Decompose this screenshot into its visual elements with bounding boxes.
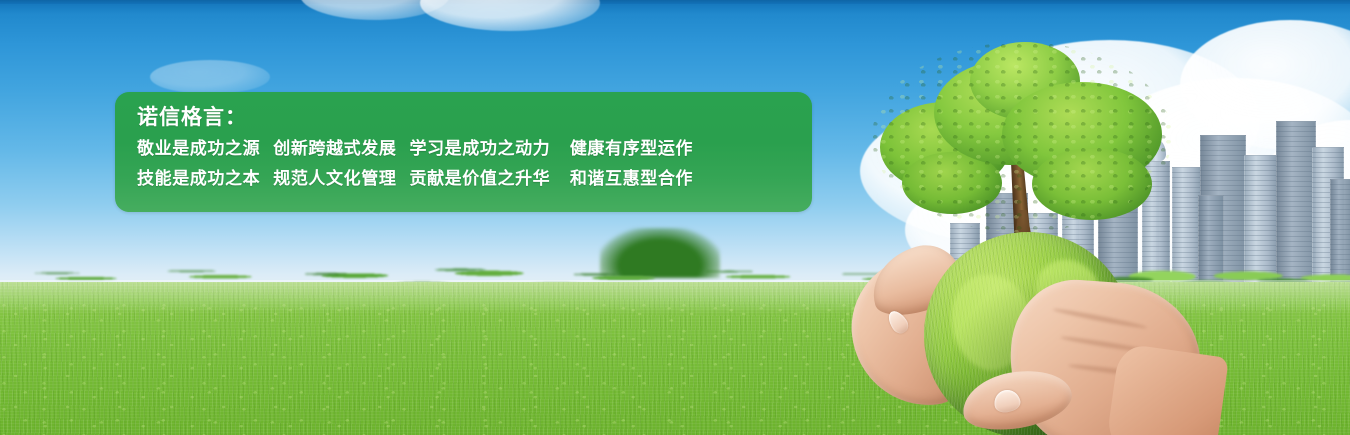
motto-title: 诺信格言： [137, 107, 812, 128]
cloud-icon [150, 60, 270, 94]
sky-top-edge [0, 0, 1350, 4]
eco-banner: 诺信格言： 敬业是成功之源 创新跨越式发展 学习是成功之动力 健康有序型运作 技… [0, 0, 1350, 435]
tree-canopy [1032, 148, 1152, 220]
globe-in-hands-group [862, 20, 1192, 435]
motto-content: 诺信格言： 敬业是成功之源 创新跨越式发展 学习是成功之动力 健康有序型运作 技… [115, 92, 812, 188]
motto-line-2: 技能是成功之本 规范人文化管理 贡献是价值之升华 和谐互惠型合作 [137, 171, 812, 188]
motto-line-1: 敬业是成功之源 创新跨越式发展 学习是成功之动力 健康有序型运作 [137, 141, 812, 158]
motto-panel: 诺信格言： 敬业是成功之源 创新跨越式发展 学习是成功之动力 健康有序型运作 技… [115, 92, 812, 212]
wrist [1105, 343, 1229, 435]
